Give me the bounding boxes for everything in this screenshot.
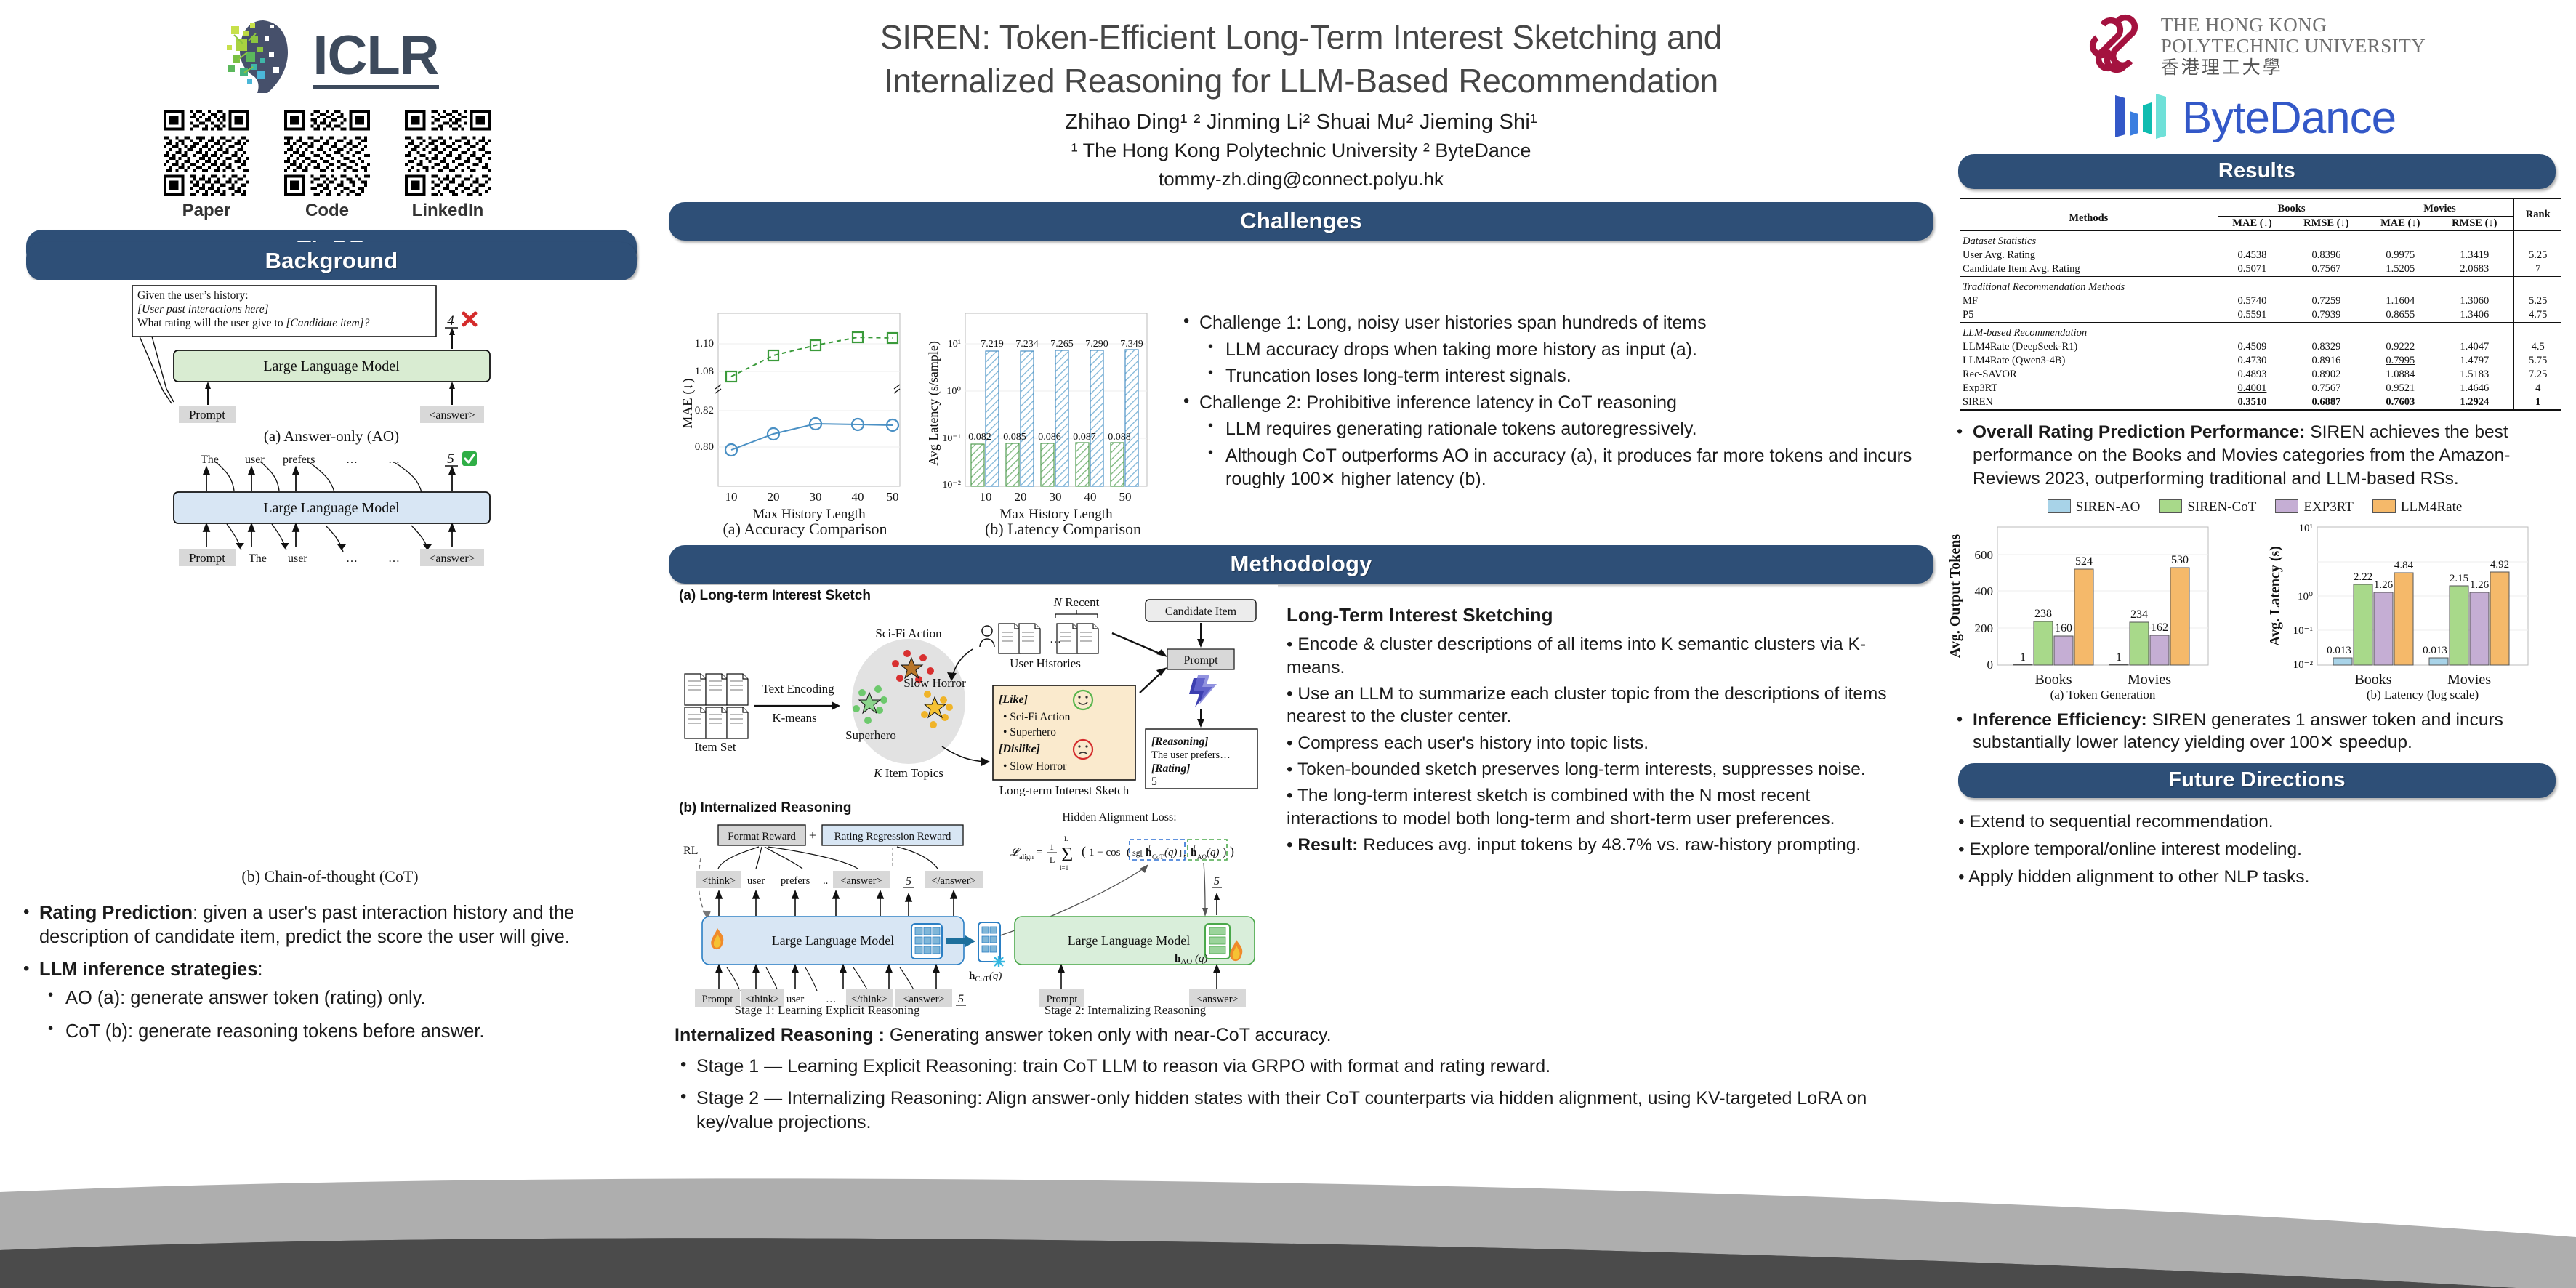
cell-movies-mae: 1.5205 — [2365, 262, 2435, 277]
stage2-llm-label: Large Language Model — [1068, 933, 1191, 948]
svg-text:162: 162 — [2151, 621, 2168, 634]
svg-text:10¹: 10¹ — [2299, 523, 2314, 534]
cell-books-mae: 0.3510 — [2218, 395, 2287, 410]
svg-text:<answer>: <answer> — [429, 552, 475, 565]
cell-rank: 7.25 — [2514, 368, 2561, 382]
svg-text:5: 5 — [906, 875, 911, 887]
svg-text:10⁻²: 10⁻² — [942, 480, 961, 491]
svg-text:..: .. — [823, 875, 828, 887]
svg-text:Books: Books — [2034, 672, 2072, 688]
legend-item-exp3rt: EXP3RT — [2275, 499, 2354, 515]
th-movies-mae: MAE (↓) — [2365, 217, 2435, 231]
challenge-subbullet: Although CoT outperforms AO in accuracy … — [1178, 444, 1926, 491]
background-bullet: LLM inference strategies: — [17, 958, 640, 982]
svg-text:600: 600 — [1975, 548, 1994, 562]
svg-text:prefers: prefers — [781, 875, 810, 887]
legend-item-llm4rate: LLM4Rate — [2372, 499, 2462, 515]
table-row: MF 0.5740 0.7259 1.1604 1.3060 5.25 — [1960, 294, 2561, 308]
cell-rank: 4.75 — [2514, 308, 2561, 323]
chart-legend: SIREN-AO SIREN-CoT EXP3RT LLM4Rate — [1933, 499, 2576, 515]
group-label: Dataset Statistics — [1960, 231, 2218, 249]
middle-column: SIREN: Token-Efficient Long-Term Interes… — [669, 0, 1933, 241]
row-method: SIREN — [1960, 395, 2218, 410]
qr-linkedin-label: LinkedIn — [405, 201, 491, 221]
svg-text:…: … — [388, 454, 400, 466]
results-charts: 600400149 0 149 200 — [1944, 520, 2569, 701]
sketching-title: Long-Term Interest Sketching — [1287, 603, 1901, 627]
row-method: LLM4Rate (Qwen3-4B) — [1960, 354, 2218, 368]
cell-books-mae: 0.4001 — [2218, 382, 2287, 395]
cell-books-mae: 0.5591 — [2218, 308, 2287, 323]
cell-rank: 5.25 — [2514, 294, 2561, 308]
cell-movies-rmse: 1.2924 — [2435, 395, 2514, 410]
section-title-methodology: Methodology — [1230, 551, 1372, 576]
cell-movies-mae: 0.9222 — [2365, 340, 2435, 354]
section-header-background: Background — [26, 242, 637, 281]
rl-label: RL — [683, 845, 698, 857]
group-label: Traditional Recommendation Methods — [1960, 277, 2218, 295]
authors: Zhihao Ding¹ ² Jinming Li² Shuai Mu² Jie… — [669, 110, 1933, 134]
svg-text:2.22: 2.22 — [2354, 571, 2372, 583]
table-row: Exp3RT 0.4001 0.7567 0.9521 1.4646 4 — [1960, 382, 2561, 395]
svg-text:0.82: 0.82 — [695, 405, 714, 416]
bullet-rest: : — [257, 959, 262, 980]
background-bullet: Rating Prediction: given a user's past i… — [17, 901, 640, 949]
svg-text:7.349: 7.349 — [1120, 339, 1143, 350]
svg-text:Books: Books — [2354, 672, 2391, 688]
row-method: LLM4Rate (DeepSeek-R1) — [1960, 340, 2218, 354]
table-row: LLM4Rate (Qwen3-4B) 0.4730 0.8916 0.7995… — [1960, 354, 2561, 368]
section-title-results: Results — [2218, 159, 2295, 182]
th-books-mae: MAE (↓) — [2218, 217, 2287, 231]
table-row: SIREN 0.3510 0.6887 0.7603 1.2924 1 — [1960, 395, 2561, 410]
svg-text:+: + — [809, 828, 816, 842]
svg-text:prefers: prefers — [283, 454, 315, 466]
figure-caption-ao: (a) Answer-only (AO) — [264, 427, 399, 445]
table-row: User Avg. Rating 0.4538 0.8396 0.9975 1.… — [1960, 249, 2561, 262]
group-label: LLM-based Recommendation — [1960, 323, 2218, 341]
cell-movies-rmse: 1.4047 — [2435, 340, 2514, 354]
qr-paper-label: Paper — [164, 201, 249, 221]
qr-code-icon — [164, 110, 249, 196]
svg-text:[User past interactions here]: [User past interactions here] — [137, 303, 269, 315]
challenge-bullet: Challenge 2: Prohibitive inference laten… — [1178, 391, 1926, 415]
svg-text:50: 50 — [887, 490, 899, 504]
cell-movies-mae: 0.9521 — [2365, 382, 2435, 395]
cell-books-mae: 0.5740 — [2218, 294, 2287, 308]
svg-text:4: 4 — [447, 313, 454, 329]
sketch-dislike-label: [Dislike] — [999, 743, 1040, 755]
svg-text:The: The — [201, 454, 219, 466]
cell-movies-mae: 0.9975 — [2365, 249, 2435, 262]
table-group-header: LLM-based Recommendation — [1960, 323, 2561, 341]
cell-movies-rmse: 1.5183 — [2435, 368, 2514, 382]
legend-swatch — [2159, 499, 2182, 513]
svg-text:1: 1 — [2020, 651, 2026, 664]
cluster-label-scifi: Sci-Fi Action — [875, 627, 942, 640]
challenge-subbullet: LLM accuracy drops when taking more hist… — [1178, 338, 1926, 362]
svg-text:Movies: Movies — [2447, 672, 2491, 688]
svg-text:40: 40 — [852, 490, 864, 504]
iclr-brain-icon — [215, 15, 301, 104]
svg-text:4.84: 4.84 — [2394, 560, 2414, 571]
svg-text:The user prefers…: The user prefers… — [1151, 749, 1231, 761]
svg-text:• Slow Horror: • Slow Horror — [1003, 760, 1067, 773]
prompt-label: Prompt — [1183, 654, 1218, 667]
internalized-reasoning-text: Internalized Reasoning : Generating answ… — [675, 1023, 1910, 1143]
svg-text:…: … — [388, 552, 400, 565]
results-bullet: Inference Efficiency: SIREN generates 1 … — [1951, 709, 2559, 755]
stage-bullet: Stage 2 — Internalizing Reasoning: Align… — [675, 1087, 1910, 1134]
svg-text:0.013: 0.013 — [2327, 645, 2351, 656]
svg-text:0.087: 0.087 — [1073, 432, 1096, 443]
svg-text:524: 524 — [2075, 555, 2093, 568]
svg-text:10⁰: 10⁰ — [2298, 591, 2313, 603]
svg-text:30: 30 — [810, 490, 822, 504]
results-bullet: Overall Rating Prediction Performance: S… — [1951, 421, 2559, 491]
challenge-bullet: Challenge 1: Long, noisy user histories … — [1178, 311, 1926, 335]
output-rating-label: [Rating] — [1151, 762, 1190, 775]
svg-text:…: … — [346, 454, 358, 466]
fig-a-title: (a) Long-term Interest Sketch — [679, 588, 871, 603]
cell-rank: 5.25 — [2514, 249, 2561, 262]
row-method: P5 — [1960, 308, 2218, 323]
bullet-lead: LLM inference strategies — [39, 959, 257, 980]
cell-books-rmse: 0.7939 — [2287, 308, 2365, 323]
prompt-line1: Given the user’s history: — [137, 289, 249, 302]
svg-text:0.082: 0.082 — [968, 432, 991, 443]
legend-swatch — [2048, 499, 2071, 513]
bullet-lead: Rating Prediction — [39, 903, 193, 923]
rating-reward-label: Rating Regression Reward — [834, 831, 951, 842]
user-histories-label: User Histories — [1010, 656, 1081, 670]
svg-text:l=1: l=1 — [1060, 864, 1068, 872]
future-bullet: • Explore temporal/online interest model… — [1958, 836, 2559, 864]
svg-text:4.92: 4.92 — [2490, 559, 2509, 571]
th-movies-rmse: RMSE (↓) — [2435, 217, 2514, 231]
cell-rank: 4 — [2514, 382, 2561, 395]
svg-text:N Recent: N Recent — [1053, 595, 1100, 609]
cell-books-rmse: 0.8916 — [2287, 354, 2365, 368]
iclr-logo-block: ICLR — [0, 0, 654, 221]
caption-latency: (b) Latency Comparison — [934, 520, 1192, 539]
svg-text:7.219: 7.219 — [981, 339, 1004, 350]
output-reasoning-label: [Reasoning] — [1151, 736, 1208, 748]
svg-text:200: 200 — [1975, 621, 1994, 635]
background-subbullet: CoT (b): generate reasoning tokens befor… — [17, 1020, 640, 1044]
svg-text:sg[: sg[ — [1132, 848, 1143, 858]
cell-books-rmse: 0.6887 — [2287, 395, 2365, 410]
cell-books-rmse: 0.8902 — [2287, 368, 2365, 382]
iclr-wordmark: ICLR — [313, 30, 438, 89]
svg-text:K-means: K-means — [772, 711, 816, 725]
challenge-subbullet: Truncation loses long-term interest sign… — [1178, 364, 1926, 388]
svg-text:40: 40 — [1084, 490, 1097, 504]
results-table: Methods Books Movies Rank MAE (↓) RMSE (… — [1960, 198, 2561, 411]
cell-movies-rmse: 1.3419 — [2435, 249, 2514, 262]
svg-text:(: ( — [1082, 844, 1086, 859]
svg-text:5: 5 — [1214, 875, 1220, 887]
table-row: Rec-SAVOR 0.4893 0.8902 1.0884 1.5183 7.… — [1960, 368, 2561, 382]
svg-text:• Sci-Fi Action: • Sci-Fi Action — [1003, 711, 1071, 723]
svg-text:What rating will the user give: What rating will the user give to [Candi… — [137, 317, 370, 329]
candidate-item-label: Candidate Item — [1165, 605, 1237, 618]
th-books-rmse: RMSE (↓) — [2287, 217, 2365, 231]
cell-movies-mae: 1.1604 — [2365, 294, 2435, 308]
methodology-text: Long-Term Interest Sketching • Encode & … — [1287, 603, 1901, 857]
cell-books-mae: 0.4730 — [2218, 354, 2287, 368]
svg-text:1.26: 1.26 — [2374, 579, 2394, 591]
item-set-label: Item Set — [694, 740, 736, 754]
svg-text:user: user — [747, 875, 765, 887]
cluster-label-horror: Slow Horror — [903, 676, 966, 690]
caption-token-generation: (a) Token Generation — [2050, 688, 2156, 701]
bytedance-wordmark: ByteDance — [2182, 92, 2396, 144]
svg-text:align: align — [1019, 853, 1034, 861]
table-row: P5 0.5591 0.7939 0.8655 1.3406 4.75 — [1960, 308, 2561, 323]
svg-text:hCoT(q): hCoT(q) — [969, 970, 1002, 983]
results-bullet-efficiency: Inference Efficiency: SIREN generates 1 … — [1951, 709, 2559, 755]
svg-text:10⁻²: 10⁻² — [2293, 659, 2314, 671]
polyu-en-line2: POLYTECHNIC UNIVERSITY — [2161, 36, 2426, 56]
future-bullets: • Extend to sequential recommendation. •… — [1958, 808, 2559, 891]
cell-books-rmse: 0.7567 — [2287, 382, 2365, 395]
methodology-figure-a: (a) Long-term Interest Sketch — [675, 585, 1278, 803]
svg-text:1.26: 1.26 — [2470, 579, 2490, 591]
polyu-knot-icon — [2084, 10, 2151, 81]
bytedance-logo: ByteDance — [1933, 92, 2576, 144]
background-figure: Given the user’s history: [User past int… — [17, 280, 643, 571]
qr-code-icon — [405, 110, 491, 196]
background-subbullet: AO (a): generate answer token (rating) o… — [17, 986, 640, 1010]
cluster-label-superhero: Superhero — [845, 728, 896, 742]
section-header-methodology: Methodology — [669, 545, 1933, 584]
svg-text:(q): (q) — [1164, 847, 1178, 858]
poster-root: ICLR — [0, 0, 2576, 1288]
cell-books-rmse: 0.7567 — [2287, 262, 2365, 277]
section-title-future: Future Directions — [2168, 768, 2346, 792]
results-bullet-overall: Overall Rating Prediction Performance: S… — [1951, 421, 2559, 491]
bytedance-bars-icon — [2114, 92, 2170, 144]
title-line-2: Internalized Reasoning for LLM-Based Rec… — [669, 60, 1933, 103]
sketching-bullet: • Encode & cluster descriptions of all i… — [1287, 633, 1901, 679]
svg-text:0: 0 — [1987, 658, 1994, 672]
cell-books-mae: 0.4893 — [2218, 368, 2287, 382]
cell-books-rmse: 0.8329 — [2287, 340, 2365, 354]
table-header-row-1: Methods Books Movies Rank — [1960, 198, 2561, 217]
title-line-1: SIREN: Token-Efficient Long-Term Interes… — [669, 16, 1933, 60]
stage1-caption: Stage 1: Learning Explicit Reasoning — [675, 1003, 980, 1018]
cell-movies-mae: 0.7995 — [2365, 354, 2435, 368]
section-title-challenges: Challenges — [1240, 208, 1361, 233]
svg-text:Prompt: Prompt — [189, 551, 225, 565]
cell-movies-rmse: 1.3060 — [2435, 294, 2514, 308]
svg-text:Large Language Model: Large Language Model — [263, 358, 400, 374]
cell-movies-rmse: 2.0683 — [2435, 262, 2514, 277]
svg-text:1: 1 — [2116, 651, 2122, 664]
svg-text:user: user — [245, 454, 265, 466]
cell-books-mae: 0.5071 — [2218, 262, 2287, 277]
snowflake-icon — [993, 956, 1005, 967]
challenge-subbullet: LLM requires generating rationale tokens… — [1178, 417, 1926, 441]
section-title-background: Background — [265, 248, 398, 273]
polyu-en-line1: THE HONG KONG — [2161, 15, 2426, 35]
sketch-like-label: [Like] — [999, 693, 1028, 706]
svg-text:10: 10 — [725, 490, 738, 504]
row-method: Rec-SAVOR — [1960, 368, 2218, 382]
affiliations: ¹ The Hong Kong Polytechnic University ²… — [669, 140, 1933, 162]
cell-movies-rmse: 1.3406 — [2435, 308, 2514, 323]
svg-text:5: 5 — [447, 451, 454, 467]
svg-text:10: 10 — [980, 490, 992, 504]
bottom-wave-decoration — [0, 1135, 2576, 1288]
cell-books-rmse: 0.7259 — [2287, 294, 2365, 308]
svg-text:400: 400 — [1975, 584, 1994, 598]
svg-text:K Item Topics: K Item Topics — [873, 766, 943, 780]
table-group-header: Dataset Statistics — [1960, 231, 2561, 249]
svg-text:user: user — [288, 552, 307, 565]
qr-code-row: Paper — [0, 110, 654, 221]
svg-text:0.80: 0.80 — [695, 441, 714, 453]
svg-text:Large Language Model: Large Language Model — [263, 500, 400, 516]
svg-text:Avg. Output Tokens: Avg. Output Tokens — [1947, 534, 1963, 657]
svg-text:Avg. Latency (s): Avg. Latency (s) — [2267, 546, 2283, 646]
svg-text:7.290: 7.290 — [1085, 339, 1108, 350]
section-header-challenges: Challenges — [669, 202, 1933, 241]
svg-text:…: … — [346, 552, 358, 565]
legend-item-siren-cot: SIREN-CoT — [2159, 499, 2256, 515]
svg-text:160: 160 — [2055, 622, 2072, 635]
cell-books-mae: 0.4509 — [2218, 340, 2287, 354]
sketching-bullet: • The long-term interest sketch is combi… — [1287, 784, 1901, 830]
cell-movies-rmse: 1.4797 — [2435, 354, 2514, 368]
svg-text:1.08: 1.08 — [695, 366, 714, 377]
legend-item-siren-ao: SIREN-AO — [2048, 499, 2141, 515]
cell-rank: 1 — [2514, 395, 2561, 410]
challenges-charts: 1.10 1.08 0.82 0.80 — [676, 309, 1192, 527]
th-group-movies: Movies — [2365, 198, 2514, 217]
row-method: Candidate Item Avg. Rating — [1960, 262, 2218, 277]
svg-text:0.013: 0.013 — [2423, 645, 2447, 656]
page-title: SIREN: Token-Efficient Long-Term Interes… — [669, 16, 1933, 103]
svg-text:30: 30 — [1050, 490, 1062, 504]
qr-paper[interactable]: Paper — [164, 110, 249, 221]
left-column: ICLR — [0, 0, 654, 435]
table-row: Candidate Item Avg. Rating 0.5071 0.7567… — [1960, 262, 2561, 277]
background-bullets: Rating Prediction: given a user's past i… — [17, 901, 640, 1052]
results-table-wrap: Methods Books Movies Rank MAE (↓) RMSE (… — [1960, 198, 2561, 411]
caption-latency-log: (b) Latency (log scale) — [2367, 688, 2479, 701]
svg-text:50: 50 — [1119, 490, 1132, 504]
svg-text:10⁻¹: 10⁻¹ — [942, 433, 961, 444]
svg-text:L: L — [1064, 835, 1068, 842]
svg-text:MAE (↓): MAE (↓) — [680, 378, 696, 428]
svg-text:Σ: Σ — [1061, 844, 1073, 866]
svg-text:): ) — [1230, 844, 1234, 859]
cell-movies-mae: 0.8655 — [2365, 308, 2435, 323]
qr-code[interactable]: Code — [284, 110, 370, 221]
svg-text:234: 234 — [2130, 608, 2148, 621]
svg-text:5: 5 — [1151, 776, 1157, 788]
table-group-header: Traditional Recommendation Methods — [1960, 277, 2561, 295]
cell-movies-mae: 0.7603 — [2365, 395, 2435, 410]
sketching-bullet: • Compress each user's history into topi… — [1287, 732, 1901, 754]
caption-accuracy: (a) Accuracy Comparison — [676, 520, 934, 539]
sketching-bullet: • Token-bounded sketch preserves long-te… — [1287, 758, 1901, 781]
svg-text:<answer>: <answer> — [840, 875, 882, 887]
svg-text:Avg Latency (s/sample): Avg Latency (s/sample) — [926, 341, 941, 466]
polyu-text: THE HONG KONG POLYTECHNIC UNIVERSITY 香港理… — [2161, 15, 2426, 76]
challenges-bullets: Challenge 1: Long, noisy user histories … — [1178, 311, 1926, 494]
future-bullet: • Apply hidden alignment to other NLP ta… — [1958, 864, 2559, 891]
svg-text:530: 530 — [2171, 554, 2189, 566]
svg-text:• Superhero: • Superhero — [1003, 726, 1056, 738]
row-method: User Avg. Rating — [1960, 249, 2218, 262]
stage-bullet: Stage 1 — Learning Explicit Reasoning: t… — [675, 1055, 1910, 1079]
svg-text:0.085: 0.085 — [1003, 432, 1026, 443]
qr-code-label: Code — [284, 201, 370, 221]
svg-text:): ) — [1223, 846, 1226, 858]
sketching-result: • Result: Reduces avg. input tokens by 4… — [1287, 834, 1901, 856]
cell-movies-mae: 1.0884 — [2365, 368, 2435, 382]
sketching-bullet: • Use an LLM to summarize each cluster t… — [1287, 683, 1901, 728]
svg-text:0.088: 0.088 — [1108, 432, 1131, 443]
cell-books-mae: 0.4538 — [2218, 249, 2287, 262]
svg-text:10⁻¹: 10⁻¹ — [2293, 625, 2313, 637]
row-method: Exp3RT — [1960, 382, 2218, 395]
right-column: THE HONG KONG POLYTECHNIC UNIVERSITY 香港理… — [1933, 0, 2576, 891]
svg-text:L: L — [1050, 855, 1055, 865]
svg-text:Text Encoding: Text Encoding — [762, 682, 834, 696]
methodology-figure-b: (b) Internalized Reasoning Format Reward… — [675, 796, 1278, 1010]
svg-text:10⁰: 10⁰ — [946, 386, 961, 397]
future-bullet: • Extend to sequential recommendation. — [1958, 808, 2559, 836]
svg-text:20: 20 — [768, 490, 780, 504]
svg-text:(q): (q) — [1207, 847, 1220, 858]
stage1-llm-label: Large Language Model — [772, 933, 895, 948]
cell-rank: 4.5 — [2514, 340, 2561, 354]
svg-text:1: 1 — [1050, 842, 1054, 852]
svg-text:<answer>: <answer> — [429, 409, 475, 422]
section-header-results: Results — [1958, 154, 2556, 189]
svg-text:1 − cos: 1 − cos — [1089, 847, 1121, 858]
svg-text:Movies: Movies — [2128, 672, 2171, 688]
svg-text:2.15: 2.15 — [2450, 573, 2468, 584]
qr-linkedin[interactable]: LinkedIn — [405, 110, 491, 221]
svg-text:1.10: 1.10 — [695, 338, 714, 350]
contact-email[interactable]: tommy-zh.ding@connect.polyu.hk — [669, 168, 1933, 190]
qr-code-icon — [284, 110, 370, 196]
format-reward-label: Format Reward — [728, 831, 796, 842]
section-header-future: Future Directions — [1958, 763, 2556, 798]
table-row: LLM4Rate (DeepSeek-R1) 0.4509 0.8329 0.9… — [1960, 340, 2561, 354]
th-rank: Rank — [2514, 198, 2561, 231]
svg-text:10¹: 10¹ — [948, 339, 961, 350]
svg-text:20: 20 — [1015, 490, 1027, 504]
legend-swatch — [2372, 499, 2396, 513]
stage2-caption: Stage 2: Internalizing Reasoning — [980, 1003, 1271, 1018]
row-method: MF — [1960, 294, 2218, 308]
svg-text:7.265: 7.265 — [1050, 339, 1074, 350]
svg-text:=: = — [1037, 847, 1042, 858]
th-methods: Methods — [1960, 198, 2218, 231]
svg-text:0.086: 0.086 — [1038, 432, 1061, 443]
polyu-cn: 香港理工大學 — [2161, 58, 2426, 76]
internalized-lead-line: Internalized Reasoning : Generating answ… — [675, 1023, 1910, 1047]
svg-text:<think>: <think> — [702, 875, 736, 887]
figure-caption-cot: (b) Chain-of-thought (CoT) — [17, 867, 643, 886]
challenges-chart-captions: (a) Accuracy Comparison (b) Latency Comp… — [676, 520, 1192, 539]
